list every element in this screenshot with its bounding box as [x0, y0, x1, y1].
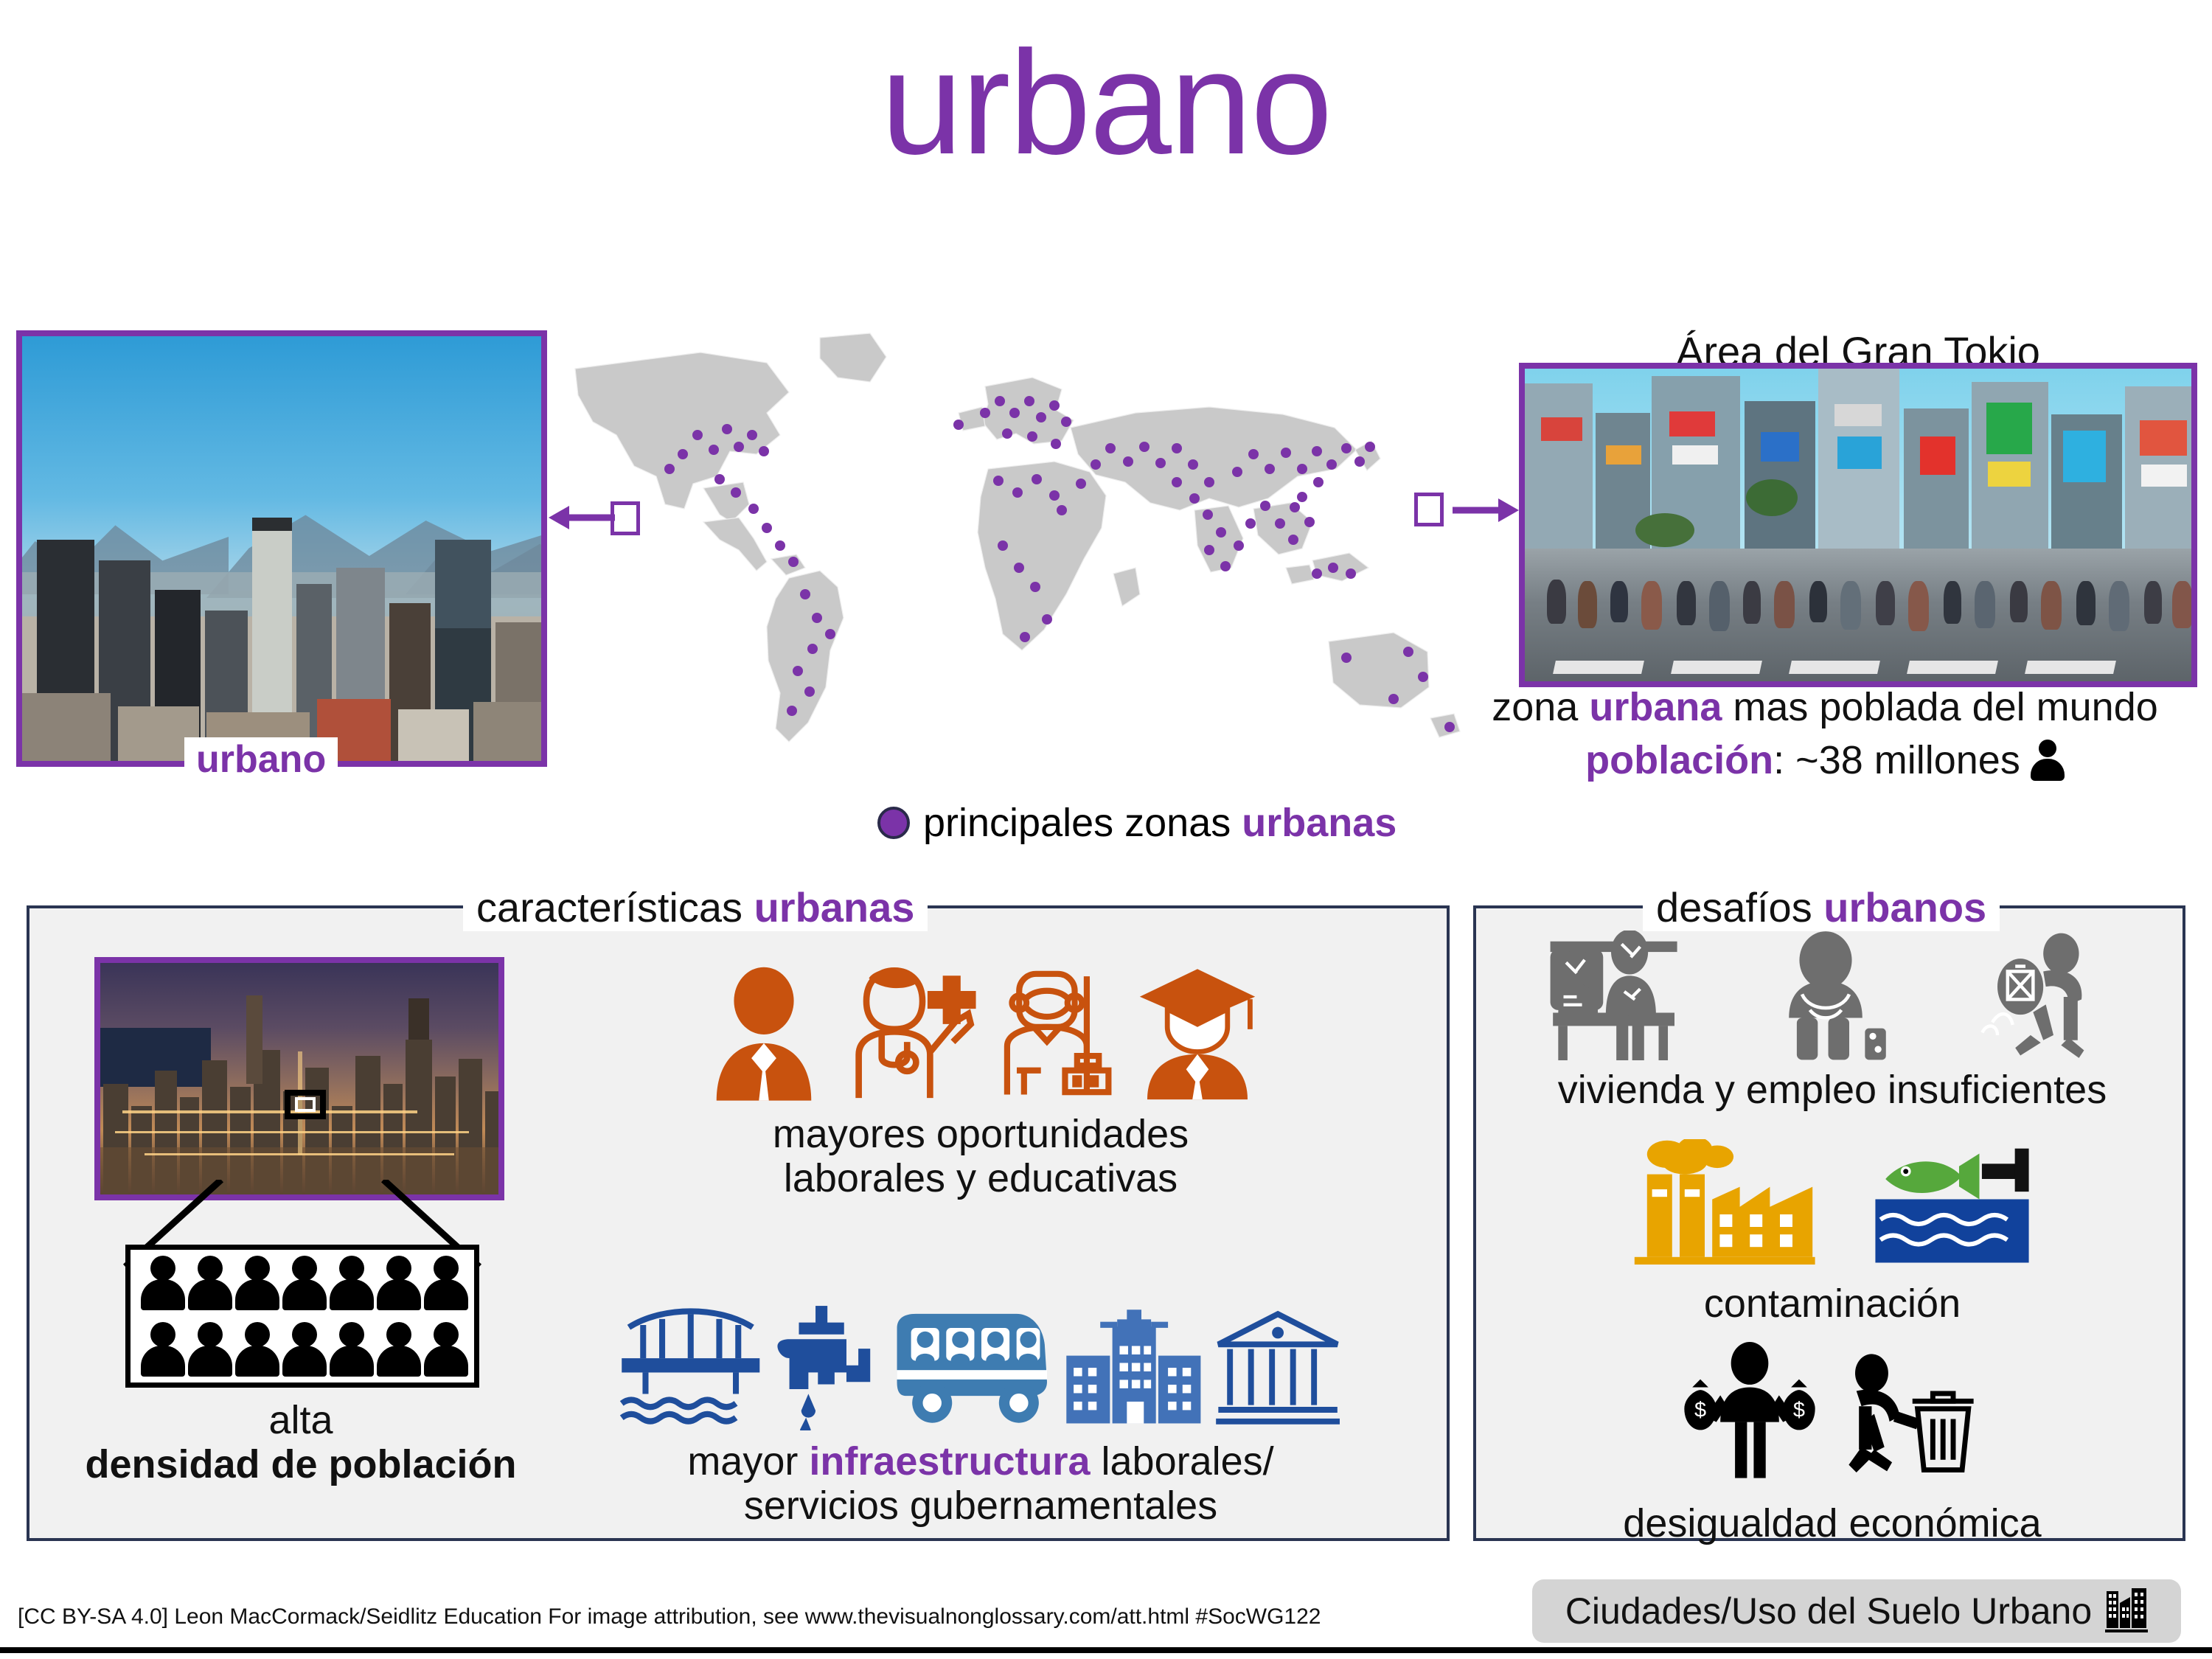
city-buildings-icon [2105, 1588, 2148, 1634]
bus-icon [890, 1305, 1054, 1430]
person-sitting-icon [1778, 931, 1896, 1063]
map-marker-tokyo [1414, 493, 1444, 526]
opportunities-label: mayores oportunidades laborales y educat… [634, 1112, 1327, 1201]
infrastructure-label: mayor infraestructura laborales/ servici… [560, 1439, 1401, 1528]
purple-dot-icon [877, 807, 910, 839]
pollution-icons [1556, 1135, 2101, 1265]
arrow-to-tokyo-photo [1447, 488, 1520, 532]
housing-employment-icons [1512, 931, 2146, 1063]
chicago-night-photo [94, 957, 504, 1200]
crowd-person-icon [424, 1254, 468, 1313]
world-map [546, 324, 1534, 804]
housing-employment-label: vivienda y empleo insuficientes [1489, 1068, 2175, 1112]
page-title: urbano [0, 29, 2212, 177]
businessman-icon [701, 966, 827, 1103]
water-tap-icon [773, 1301, 880, 1430]
crowd-person-icon [141, 1254, 185, 1313]
factory-smoke-icon [1626, 1139, 1821, 1265]
economic-inequality-icons: $ $ [1607, 1342, 2050, 1482]
crowd-person-icon [188, 1321, 232, 1380]
crowd-person-icon [330, 1254, 374, 1313]
map-legend: principales zonas urbanas [877, 800, 1397, 846]
crowd-person-icon [424, 1321, 468, 1380]
person-icon [2031, 740, 2065, 781]
topic-label: Ciudades/Uso del Suelo Urbano [1565, 1590, 2092, 1632]
poor-person-trash-icon [1841, 1342, 1981, 1482]
attribution-text: [CC BY-SA 4.0] Leon MacCormack/Seidlitz … [18, 1604, 1321, 1630]
map-legend-text: principales zonas urbanas [923, 800, 1397, 846]
arrow-to-la-photo [547, 495, 618, 540]
population-density-diagram [125, 1245, 479, 1388]
crowd-person-icon [282, 1321, 327, 1380]
footer-divider [0, 1647, 2212, 1653]
tokyo-caption-line-1: zona urbana mas poblada del mundo [1445, 684, 2205, 730]
topic-badge: Ciudades/Uso del Suelo Urbano [1532, 1579, 2181, 1643]
scientist-icon [990, 963, 1123, 1103]
urban-characteristics-title: características urbanas [463, 883, 928, 931]
water-pollution-icon [1873, 1143, 2031, 1265]
svg-text:$: $ [1694, 1398, 1706, 1422]
la-photo-caption: urbano [184, 737, 338, 782]
homeless-bench-icon [1548, 931, 1706, 1063]
government-building-icon [1214, 1305, 1342, 1430]
crowd-person-icon [188, 1254, 232, 1313]
crowd-person-icon [141, 1321, 185, 1380]
crowd-person-icon [282, 1254, 327, 1313]
pollution-label: contaminación [1489, 1281, 2175, 1326]
infographic-canvas: urbano urbano [0, 0, 2212, 1659]
los-angeles-photo [16, 330, 547, 767]
density-label: alta densidad de población [43, 1398, 559, 1487]
urban-challenges-title: desafíos urbanos [1643, 883, 2000, 931]
opportunity-icons [693, 959, 1268, 1103]
tokyo-caption-line-2: población: ~38 millones [1445, 737, 2205, 783]
graduate-icon [1135, 963, 1260, 1103]
svg-text:$: $ [1793, 1398, 1805, 1422]
tokyo-shibuya-photo [1519, 363, 2197, 687]
doctor-icon [838, 963, 978, 1103]
unemployed-person-icon [1969, 931, 2110, 1063]
crowd-person-icon [330, 1321, 374, 1380]
crowd-person-icon [235, 1321, 279, 1380]
crowd-person-icon [377, 1321, 421, 1380]
crowd-person-icon [235, 1254, 279, 1313]
hospital-icon [1064, 1305, 1203, 1430]
infrastructure-icons [619, 1298, 1342, 1430]
bridge-icon [619, 1305, 762, 1430]
crowd-person-icon [377, 1254, 421, 1313]
rich-person-money-icon: $ $ [1676, 1342, 1823, 1482]
economic-inequality-label: desigualdad económica [1489, 1501, 2175, 1545]
